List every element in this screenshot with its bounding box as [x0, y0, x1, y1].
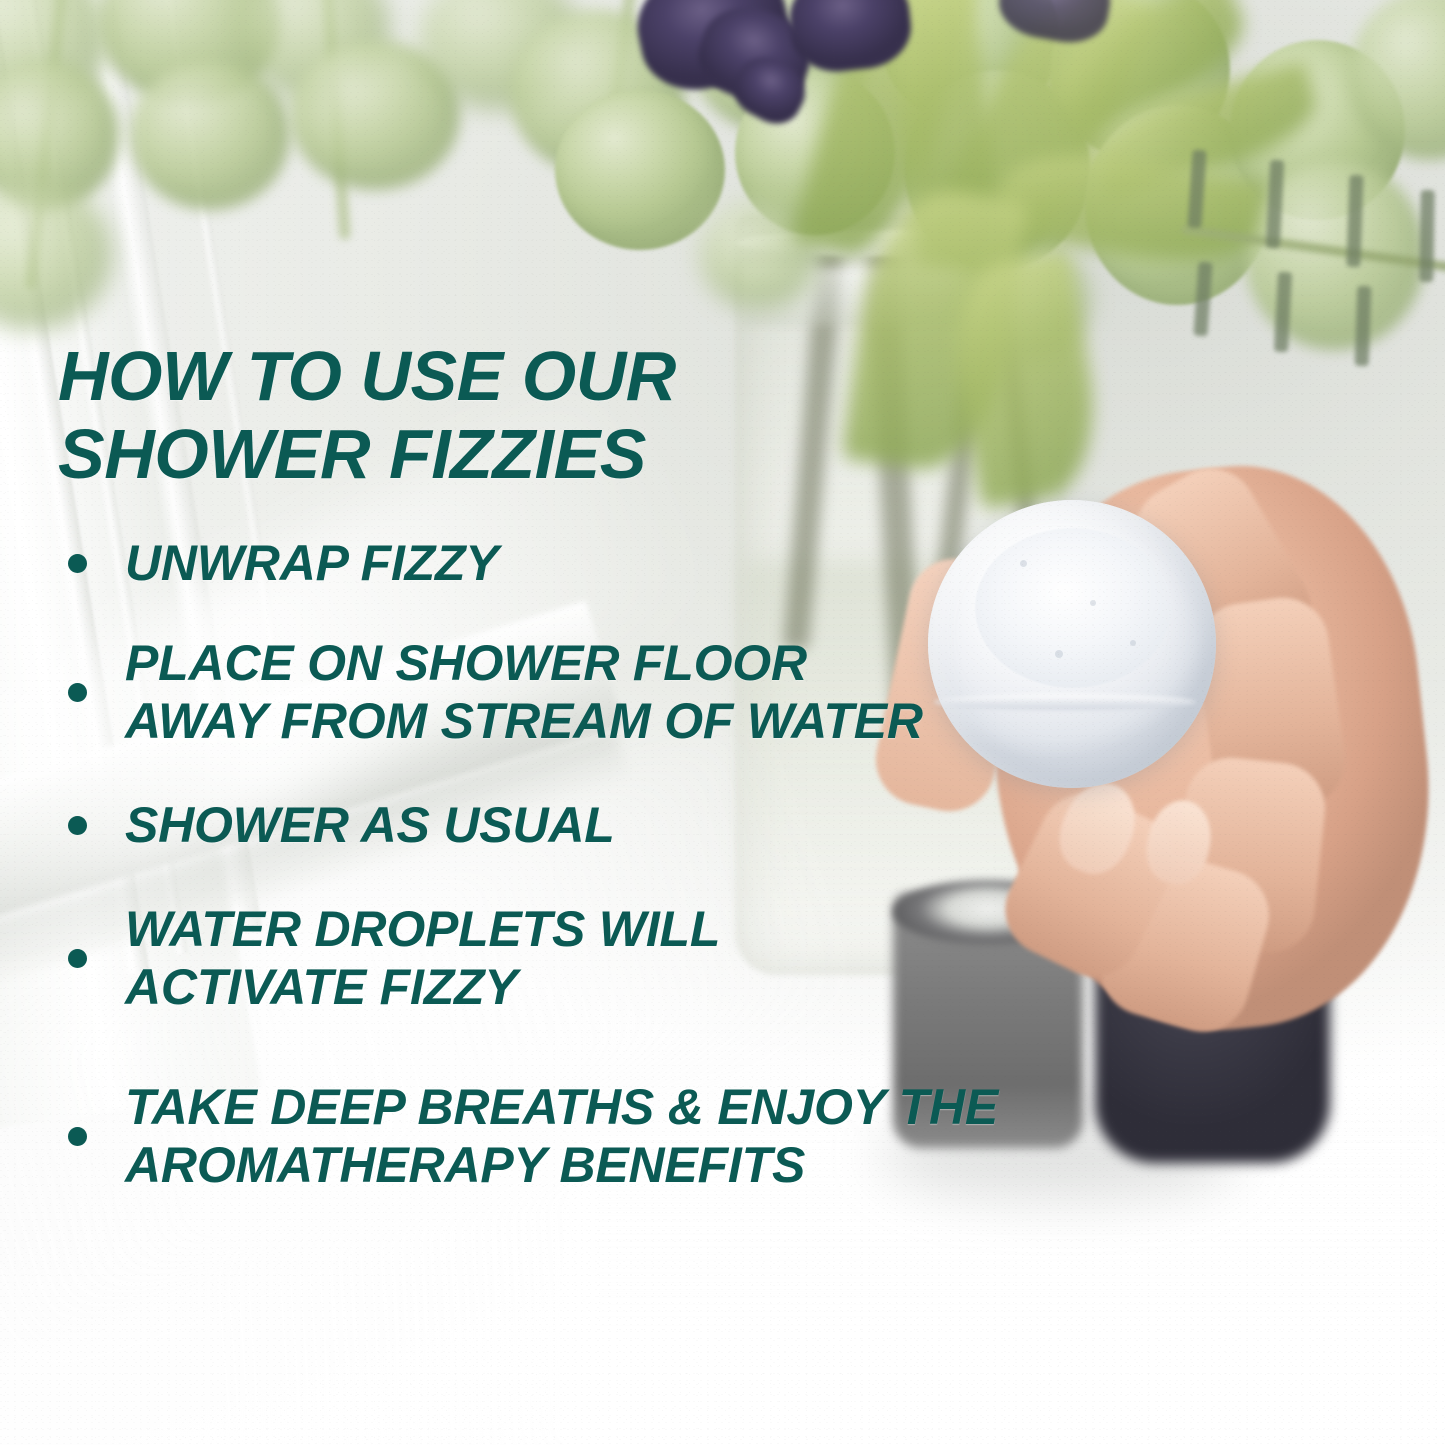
list-item-take-deep-breaths: TAKE DEEP BREATHS & ENJOY THE AROMATHERA… — [58, 1078, 1318, 1194]
list-item-line: AROMATHERAPY BENEFITS — [125, 1136, 998, 1194]
list-item-text: SHOWER AS USUAL — [125, 796, 615, 854]
page-title: HOW TO USE OUR SHOWER FIZZIES — [58, 337, 918, 494]
instructions-list: UNWRAP FIZZY PLACE ON SHOWER FLOOR AWAY … — [58, 534, 1318, 1194]
list-item-text: PLACE ON SHOWER FLOOR AWAY FROM STREAM O… — [125, 634, 923, 750]
bullet-dot-icon — [68, 1127, 87, 1146]
text-overlay: HOW TO USE OUR SHOWER FIZZIES UNWRAP FIZ… — [0, 0, 1445, 1445]
list-item-water-droplets-activate: WATER DROPLETS WILL ACTIVATE FIZZY — [58, 900, 1318, 1016]
list-item-line: SHOWER AS USUAL — [125, 796, 615, 854]
list-item-line: WATER DROPLETS WILL — [125, 900, 720, 958]
list-item-text: WATER DROPLETS WILL ACTIVATE FIZZY — [125, 900, 720, 1016]
page-title-line-1: HOW TO USE OUR — [58, 337, 918, 415]
bullet-dot-icon — [68, 816, 87, 835]
bullet-dot-icon — [68, 554, 87, 573]
list-item-place-on-shower-floor: PLACE ON SHOWER FLOOR AWAY FROM STREAM O… — [58, 634, 1318, 750]
list-item-line: TAKE DEEP BREATHS & ENJOY THE — [125, 1078, 998, 1136]
product-instruction-graphic: HOW TO USE OUR SHOWER FIZZIES UNWRAP FIZ… — [0, 0, 1445, 1445]
list-item-line: UNWRAP FIZZY — [125, 534, 498, 592]
page-title-line-2: SHOWER FIZZIES — [58, 415, 918, 493]
list-item-text: TAKE DEEP BREATHS & ENJOY THE AROMATHERA… — [125, 1078, 998, 1194]
list-item-text: UNWRAP FIZZY — [125, 534, 498, 592]
list-item-line: PLACE ON SHOWER FLOOR — [125, 634, 923, 692]
list-item-line: ACTIVATE FIZZY — [125, 958, 720, 1016]
bullet-dot-icon — [68, 949, 87, 968]
list-item-unwrap-fizzy: UNWRAP FIZZY — [58, 534, 1318, 592]
list-item-line: AWAY FROM STREAM OF WATER — [125, 692, 923, 750]
bullet-dot-icon — [68, 683, 87, 702]
list-item-shower-as-usual: SHOWER AS USUAL — [58, 796, 1318, 854]
